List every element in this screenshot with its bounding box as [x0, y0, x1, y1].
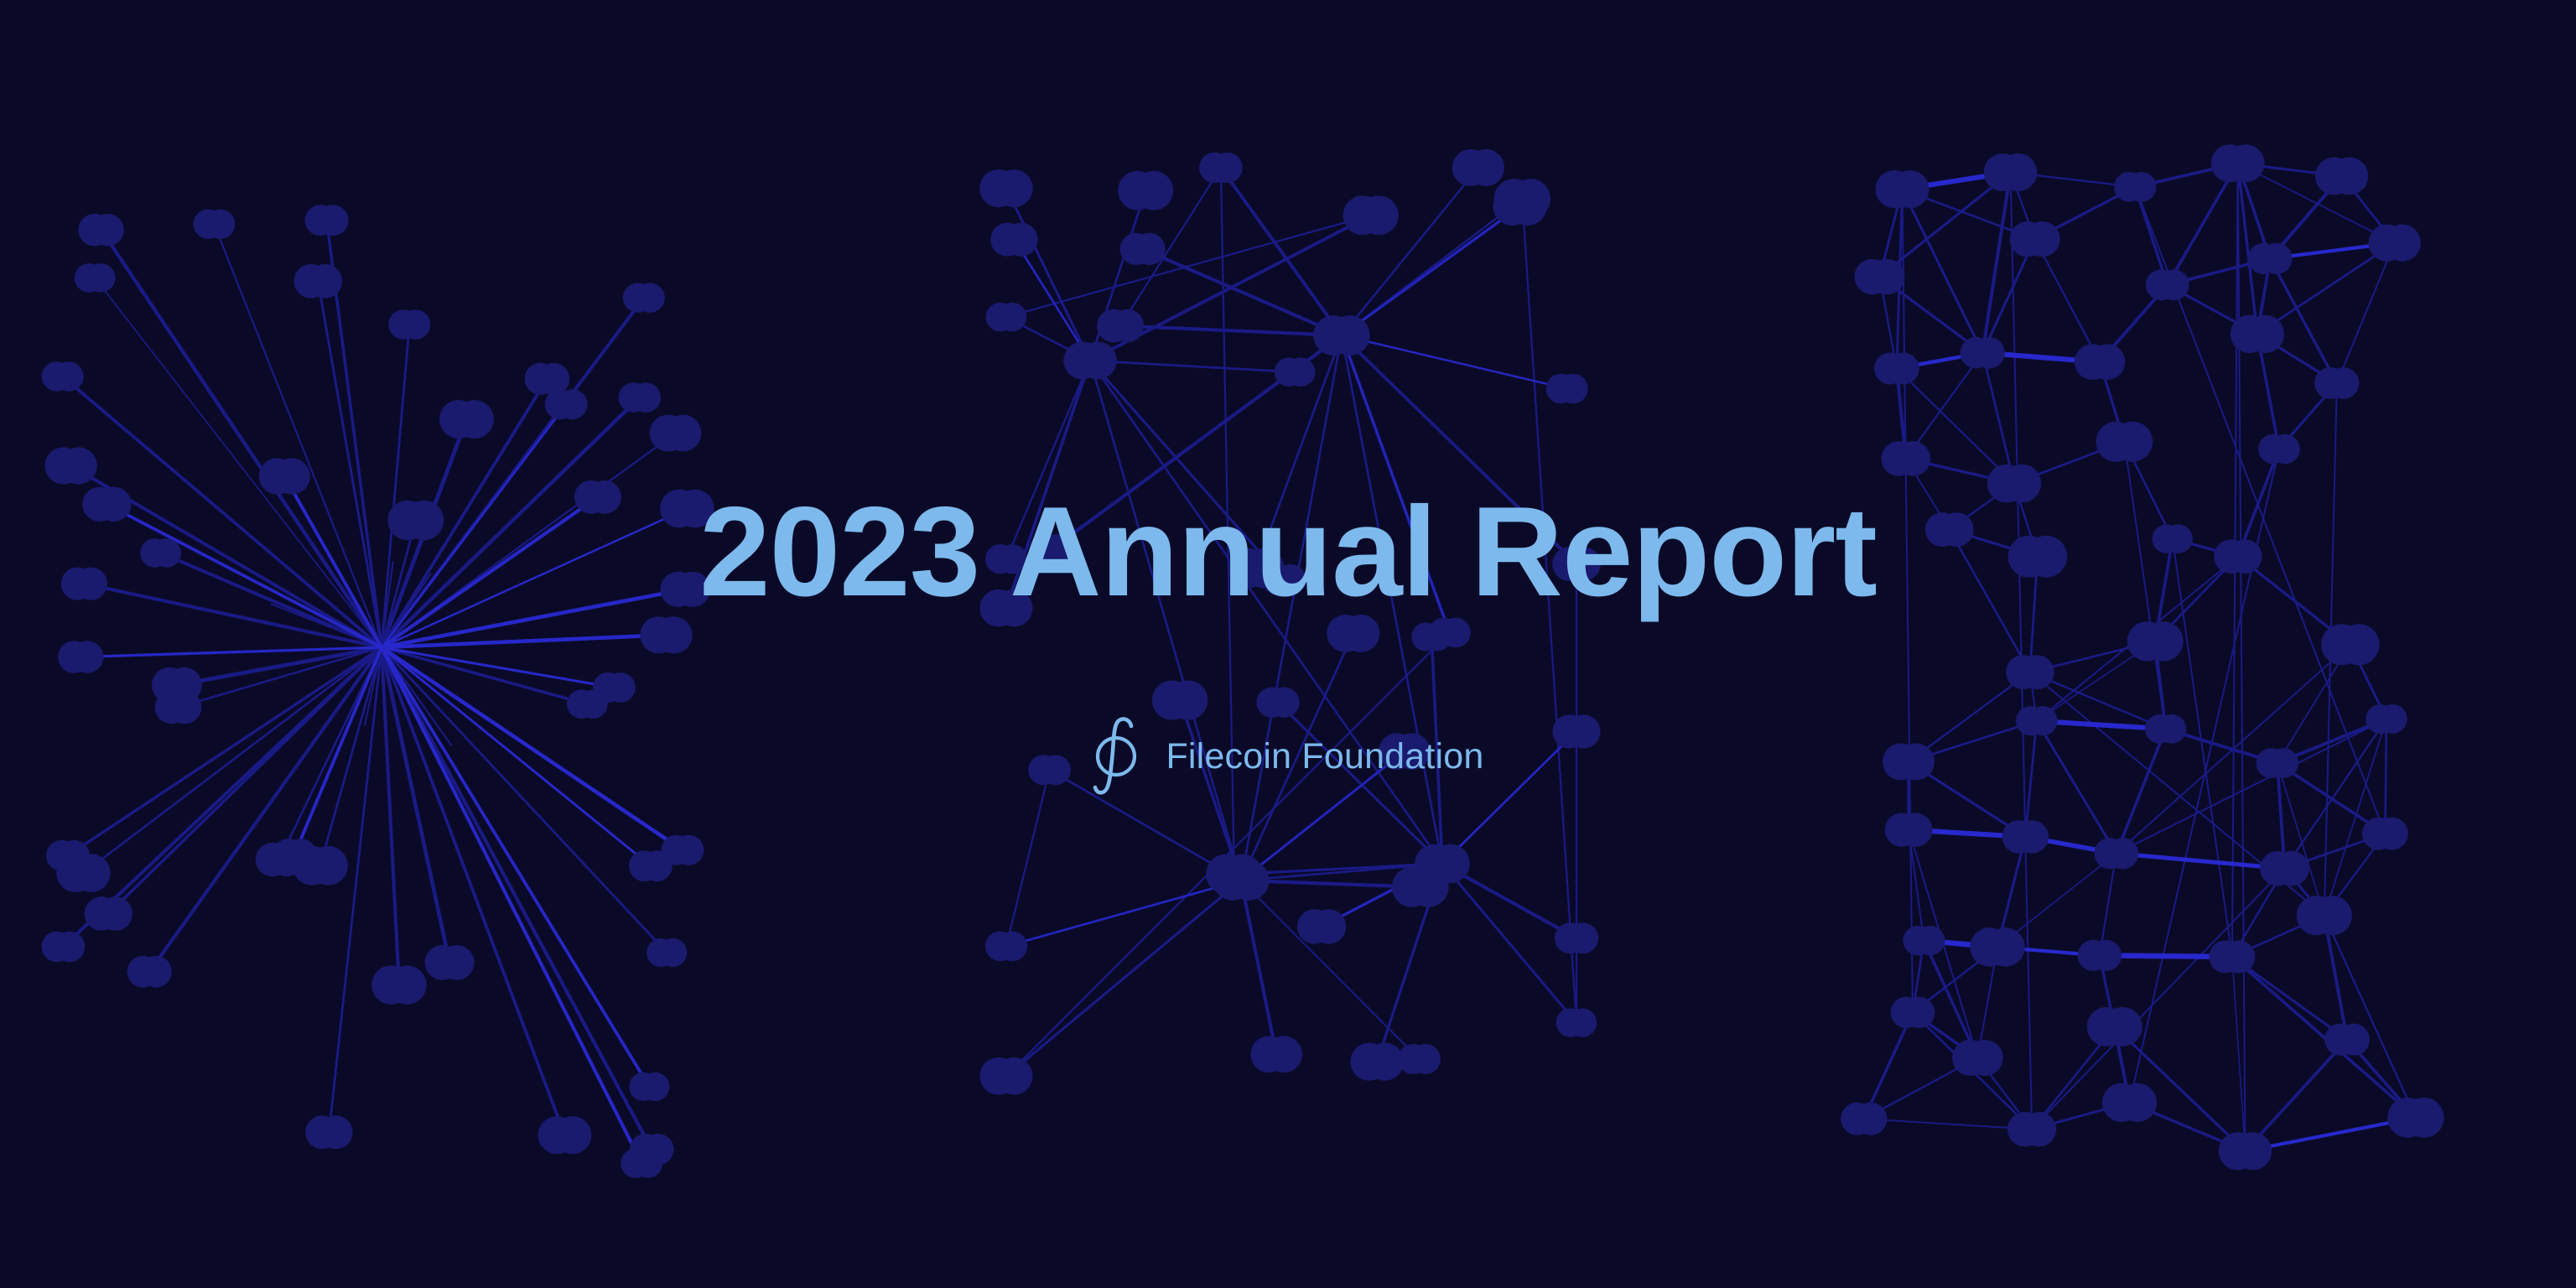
annual-report-cover: 2023 Annual Report Filecoin Foundation: [0, 0, 2576, 1288]
filecoin-logo-icon: [1092, 713, 1144, 800]
cover-content: 2023 Annual Report Filecoin Foundation: [0, 0, 2576, 1288]
page-title: 2023 Annual Report: [699, 488, 1877, 615]
brand-name: Filecoin Foundation: [1166, 736, 1483, 777]
brand-lockup: Filecoin Foundation: [1092, 713, 1483, 800]
